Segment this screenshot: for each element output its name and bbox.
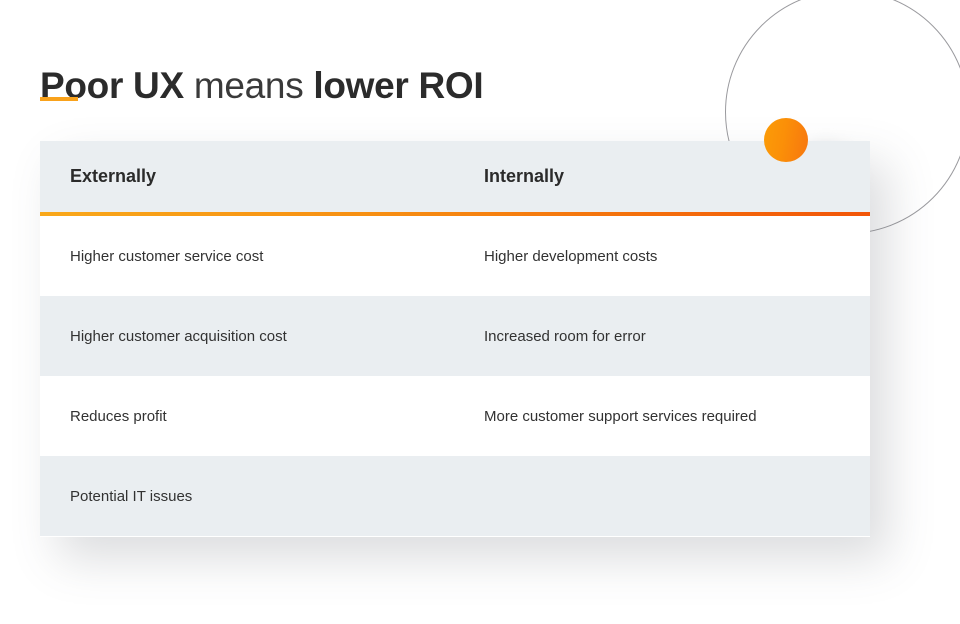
- comparison-table: Externally Internally Higher customer se…: [40, 141, 870, 537]
- table-row: Higher customer acquisition cost Increas…: [40, 296, 870, 376]
- cell-internal: Higher development costs: [454, 248, 870, 265]
- cell-external: Reduces profit: [40, 408, 454, 425]
- title-accent-bar: [40, 97, 78, 101]
- table-row: Reduces profit More customer support ser…: [40, 376, 870, 456]
- column-header-externally: Externally: [40, 166, 454, 187]
- cell-external: Potential IT issues: [40, 488, 454, 505]
- cell-external: Higher customer acquisition cost: [40, 328, 454, 345]
- cell-internal: More customer support services required: [454, 408, 870, 425]
- page-title-part-3: lower ROI: [313, 65, 483, 106]
- page-title-part-2: means: [194, 65, 314, 106]
- page-title: Poor UX means lower ROI: [40, 63, 483, 109]
- cell-internal: Increased room for error: [454, 328, 870, 345]
- orange-dot-icon: [764, 118, 808, 162]
- column-header-internally: Internally: [454, 166, 870, 187]
- cell-external: Higher customer service cost: [40, 248, 454, 265]
- table-row: Higher customer service cost Higher deve…: [40, 216, 870, 296]
- table-header-row: Externally Internally: [40, 141, 870, 212]
- slide-canvas: Poor UX means lower ROI Externally Inter…: [0, 0, 960, 624]
- table-row: Potential IT issues: [40, 456, 870, 536]
